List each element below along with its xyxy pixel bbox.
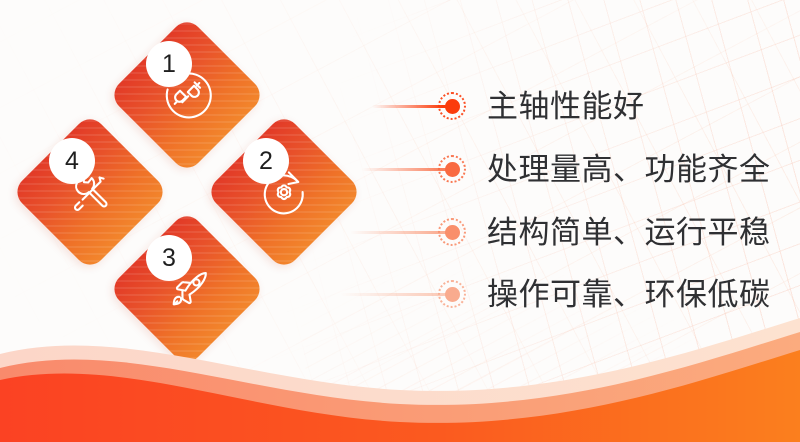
bullet-marker <box>438 92 466 120</box>
bottom-wave-decoration <box>0 302 800 442</box>
feature-label: 主轴性能好 <box>487 91 645 122</box>
bullet-dot-icon <box>445 225 460 240</box>
connector-line <box>340 293 452 296</box>
infographic-canvas: 1 2 3 4 主轴性能好 处理量高、功能齐全 <box>0 0 800 442</box>
bullet-marker <box>438 155 466 183</box>
bullet-dot-icon <box>445 99 460 114</box>
feature-label: 处理量高、功能齐全 <box>487 154 771 185</box>
bullet-dot-icon <box>445 287 460 302</box>
connector-line <box>350 231 452 234</box>
feature-label: 结构简单、运行平稳 <box>487 217 771 248</box>
bullet-marker <box>438 218 466 246</box>
bullet-dot-icon <box>445 162 460 177</box>
